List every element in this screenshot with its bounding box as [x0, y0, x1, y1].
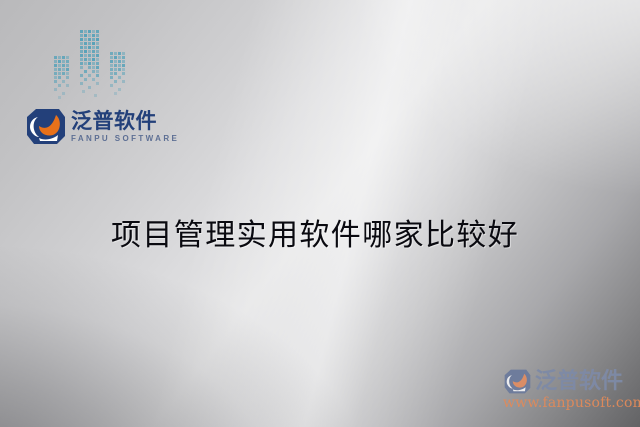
brand-name-en: FANPU SOFTWARE [71, 135, 179, 143]
watermark-logo-row: 泛普软件 [503, 369, 635, 394]
fanpu-hexagon-icon [26, 108, 66, 145]
brand-logo: 泛普软件 FANPU SOFTWARE [26, 108, 179, 145]
brand-name-cn: 泛普软件 [71, 111, 179, 132]
watermark-url: www.fanpusoft.com [503, 395, 635, 411]
site-watermark: 泛普软件 www.fanpusoft.com [503, 369, 635, 411]
pixel-skyline-graphic [52, 28, 148, 108]
pixel-skyline-icon [52, 28, 148, 108]
fanpu-hexagon-icon [503, 369, 532, 394]
brand-text-block: 泛普软件 FANPU SOFTWARE [71, 111, 179, 143]
slide-canvas: 泛普软件 FANPU SOFTWARE 项目管理实用软件哪家比较好 泛普软件 w… [0, 0, 640, 427]
watermark-name-cn: 泛普软件 [535, 371, 623, 393]
page-title: 项目管理实用软件哪家比较好 [111, 210, 519, 254]
